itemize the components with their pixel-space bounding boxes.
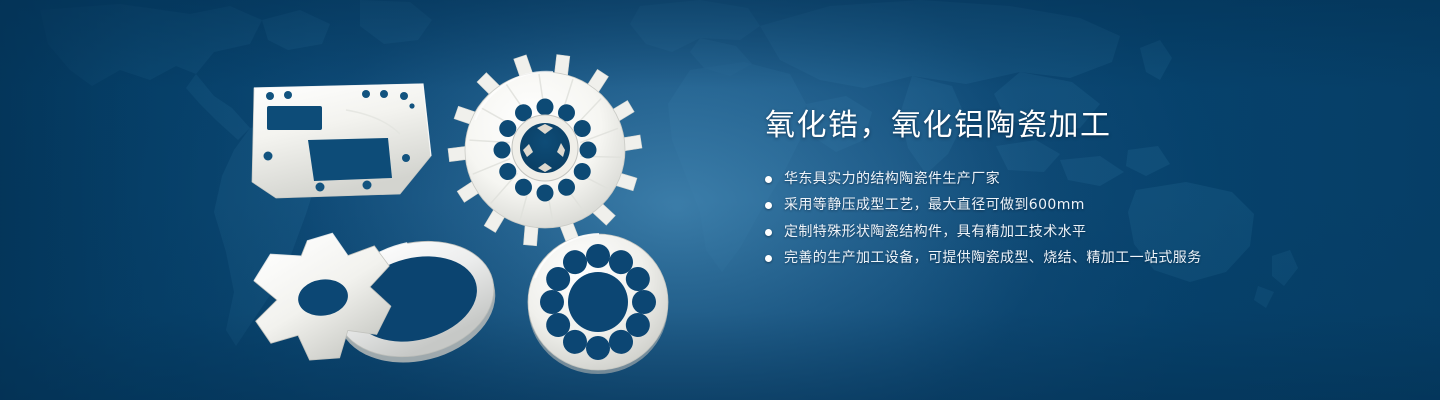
list-item: 完善的生产加工设备，可提供陶瓷成型、烧结、精加工一站式服务 [765, 250, 1385, 268]
list-item-label: 定制特殊形状陶瓷结构件，具有精加工技术水平 [784, 224, 1086, 242]
promo-banner: 氧化锆，氧化铝陶瓷加工 华东具实力的结构陶瓷件生产厂家 采用等静压成型工艺，最大… [0, 0, 1440, 400]
ceramic-impeller-image [445, 50, 645, 250]
feature-list: 华东具实力的结构陶瓷件生产厂家 采用等静压成型工艺，最大直径可做到600mm 定… [765, 171, 1385, 268]
list-item: 定制特殊形状陶瓷结构件，具有精加工技术水平 [765, 224, 1385, 242]
ceramic-cross-and-ring-image [245, 225, 520, 370]
bullet-dot-icon [765, 255, 772, 262]
list-item: 华东具实力的结构陶瓷件生产厂家 [765, 171, 1385, 189]
ceramic-holed-disc-image [513, 222, 683, 382]
banner-text-block: 氧化锆，氧化铝陶瓷加工 华东具实力的结构陶瓷件生产厂家 采用等静压成型工艺，最大… [765, 108, 1385, 268]
bullet-dot-icon [765, 229, 772, 236]
product-photo-cluster [235, 40, 705, 380]
bullet-dot-icon [765, 202, 772, 209]
list-item-label: 华东具实力的结构陶瓷件生产厂家 [784, 171, 1000, 189]
list-item-label: 采用等静压成型工艺，最大直径可做到600mm [784, 197, 1085, 215]
ceramic-plate-image [250, 82, 435, 200]
list-item: 采用等静压成型工艺，最大直径可做到600mm [765, 197, 1385, 215]
page-title: 氧化锆，氧化铝陶瓷加工 [765, 108, 1385, 145]
bullet-dot-icon [765, 176, 772, 183]
list-item-label: 完善的生产加工设备，可提供陶瓷成型、烧结、精加工一站式服务 [784, 250, 1202, 268]
